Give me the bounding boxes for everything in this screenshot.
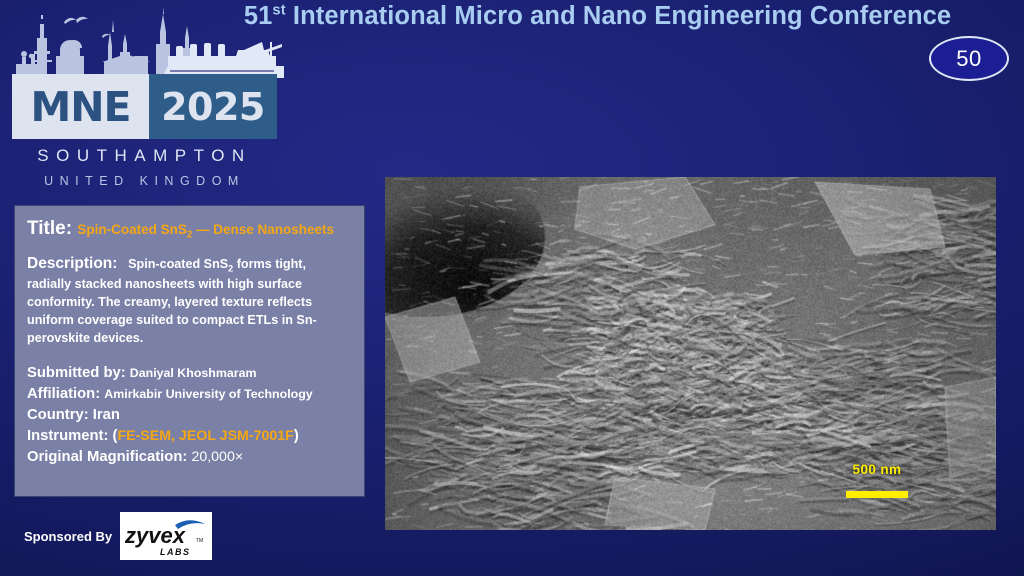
scale-bar: 500 nm <box>846 462 908 498</box>
affiliation-label: Affiliation: <box>27 386 100 402</box>
submitted-by-value: Daniyal Khoshmaram <box>130 366 257 380</box>
instrument-paren-close: ) <box>294 428 299 444</box>
slide-canvas: 51st International Micro and Nano Engine… <box>0 0 1024 576</box>
svg-text:TM: TM <box>196 538 203 544</box>
sponsor-block: Sponsored By zyvex TM LABS <box>24 512 212 560</box>
conference-logo: MNE 2025 SOUTHAMPTON UNITED KINGDOM <box>4 4 284 194</box>
title-value-post: — Dense Nanosheets <box>192 222 334 237</box>
magnification-value: 20,000× <box>191 449 243 465</box>
page-title: 51st International Micro and Nano Engine… <box>175 2 1020 31</box>
sem-micrograph: 500 nm <box>385 177 996 530</box>
svg-text:LABS: LABS <box>160 547 191 557</box>
logo-acronym: MNE <box>12 74 149 139</box>
logo-year: 2025 <box>149 74 277 139</box>
affiliation-value: Amirkabir University of Technology <box>104 387 312 401</box>
instrument-row: Instrument: (FE-SEM, JEOL JSM-7001F) <box>27 426 352 447</box>
logo-city-label: SOUTHAMPTON <box>12 146 277 166</box>
description-row: Description: Spin-coated SnS2 forms tigh… <box>27 254 352 347</box>
svg-text:zyvex: zyvex <box>124 523 186 548</box>
slide-number-badge: 50 <box>929 36 1009 81</box>
title-value-pre: Spin-Coated SnS <box>77 222 187 237</box>
title-row: Title: Spin-Coated SnS2 — Dense Nanoshee… <box>27 218 352 240</box>
country-label: Country: <box>27 407 89 423</box>
description-label: Description: <box>27 255 117 272</box>
country-row: Country: Iran <box>27 405 352 426</box>
zyvex-labs-logo: zyvex TM LABS <box>120 512 212 560</box>
logo-country-label: UNITED KINGDOM <box>12 174 277 188</box>
submitted-by-row: Submitted by: Daniyal Khoshmaram <box>27 363 352 384</box>
sponsored-by-label: Sponsored By <box>24 529 112 544</box>
title-label: Title: <box>27 218 72 239</box>
magnification-label: Original Magnification: <box>27 449 187 465</box>
affiliation-row: Affiliation: Amirkabir University of Tec… <box>27 384 352 405</box>
description-value-pre: Spin-coated SnS <box>128 257 228 271</box>
country-value: Iran <box>93 407 120 423</box>
submitted-by-label: Submitted by: <box>27 365 126 381</box>
magnification-row: Original Magnification: 20,000× <box>27 447 352 468</box>
scale-bar-line <box>846 491 908 498</box>
title-remainder: International Micro and Nano Engineering… <box>286 2 951 30</box>
logo-wordmark: MNE 2025 <box>12 74 277 139</box>
instrument-label: Instrument: <box>27 428 108 444</box>
scale-bar-label: 500 nm <box>846 462 908 477</box>
title-value: Spin-Coated SnS2 — Dense Nanosheets <box>77 222 334 237</box>
instrument-value: FE-SEM, JEOL JSM-7001F <box>117 428 293 444</box>
submission-info-panel: Title: Spin-Coated SnS2 — Dense Nanoshee… <box>14 205 365 497</box>
slide-number-value: 50 <box>956 46 981 72</box>
